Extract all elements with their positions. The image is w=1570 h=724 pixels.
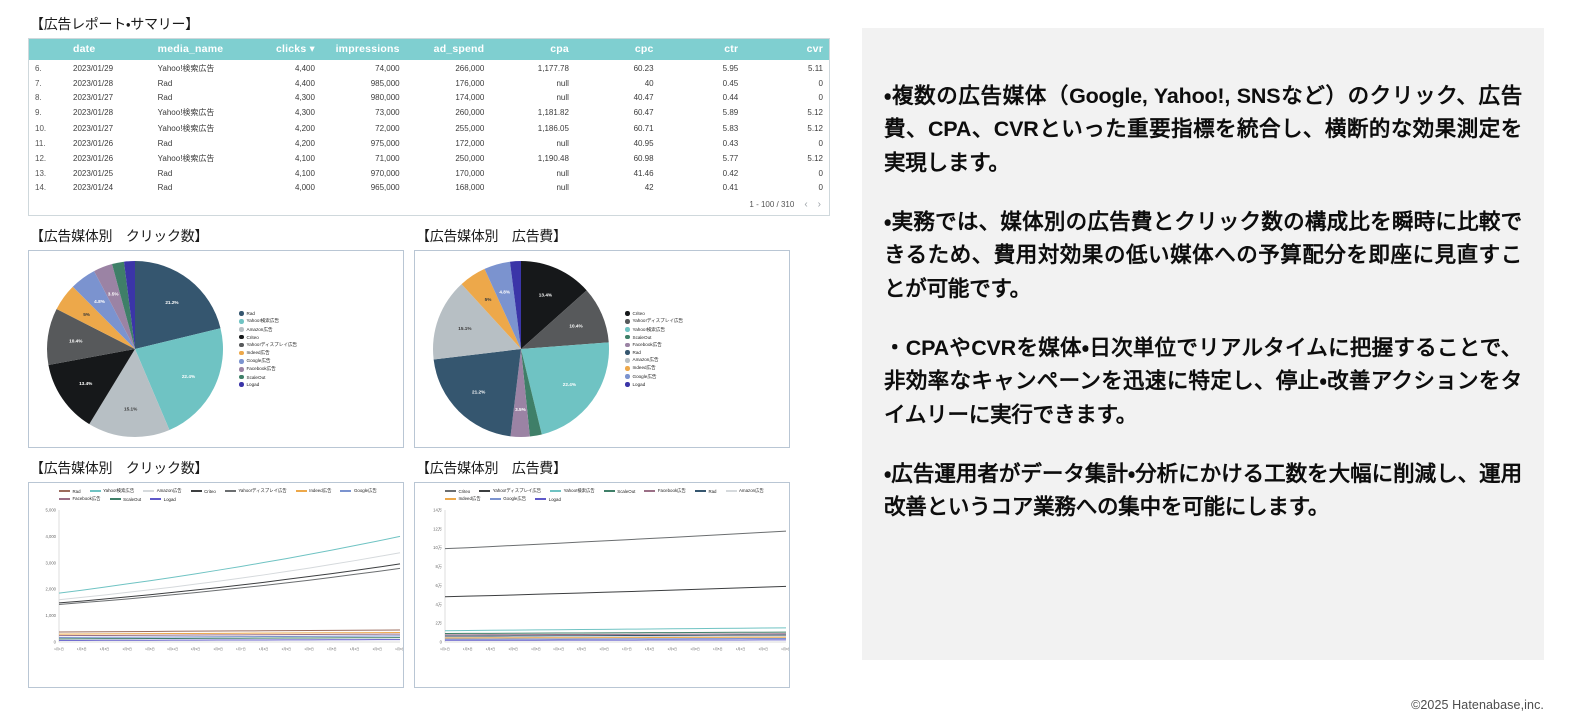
legend-label: Criteo bbox=[633, 311, 645, 316]
line-clicks-x-tick: 1月6日 bbox=[145, 647, 155, 651]
line-chart-spend-card[interactable]: CriteoYahoo!ディスプレイ広告Yahoo!検索広告ScaleOutFa… bbox=[414, 482, 790, 688]
cell-cpa: null bbox=[490, 76, 575, 90]
legend-color-swatch bbox=[59, 490, 70, 492]
legend-color-dot bbox=[625, 382, 630, 387]
pie-clicks-svg: 21.2%22.4%15.1%13.4%10.4%5%4.8%3.5% bbox=[39, 254, 231, 444]
line-clicks-x-tick: 1月9日 bbox=[395, 647, 404, 651]
pie-clicks-legend-item[interactable]: Google広告 bbox=[239, 358, 297, 364]
line-clicks-legend-item[interactable]: ScaleOut bbox=[110, 496, 142, 502]
legend-color-swatch bbox=[90, 490, 101, 492]
pie-spend-slice-label: 3.5% bbox=[515, 407, 527, 412]
pie-spend-legend-item[interactable]: ScaleOut bbox=[625, 335, 683, 340]
cell-date: 2023/01/26 bbox=[67, 150, 152, 166]
description-bullet-1: ・複数の広告媒体（Google, Yahoo!, SNSなど）のクリック、広告費… bbox=[884, 80, 1522, 180]
legend-label: Facebook広告 bbox=[247, 366, 276, 372]
table-header-row: date media_name clicks ▾ impressions ad_… bbox=[29, 39, 829, 60]
cell-ctr: 0.41 bbox=[660, 180, 745, 194]
cell-index: 8. bbox=[29, 90, 67, 104]
legend-color-swatch bbox=[604, 490, 615, 492]
line-spend-x-tick: 1月6日 bbox=[531, 647, 541, 651]
cell-impressions: 975,000 bbox=[321, 136, 406, 150]
line-clicks-legend-item[interactable]: Google広告 bbox=[340, 488, 376, 494]
cell-index: 14. bbox=[29, 180, 67, 194]
cell-cpa: 1,190.48 bbox=[490, 150, 575, 166]
line-spend-series-line[interactable] bbox=[445, 628, 786, 631]
cell-impressions: 74,000 bbox=[321, 60, 406, 76]
legend-color-dot bbox=[625, 343, 630, 348]
pie-spend-legend-item[interactable]: Yahoo!検索広告 bbox=[625, 327, 683, 333]
cell-cpc: 60.23 bbox=[575, 60, 660, 76]
line-spend-series-line[interactable] bbox=[445, 531, 786, 549]
cell-ctr: 0.42 bbox=[660, 166, 745, 180]
pie-clicks-wrap: 21.2%22.4%15.1%13.4%10.4%5%4.8%3.5% RadY… bbox=[29, 251, 403, 447]
legend-label: Criteo bbox=[247, 335, 259, 340]
pie-clicks-legend-item[interactable]: Criteo bbox=[239, 335, 297, 340]
cell-impressions: 965,000 bbox=[321, 180, 406, 194]
pie-spend-legend-item[interactable]: Amazon広告 bbox=[625, 357, 683, 363]
line-spend-legend-item[interactable]: Rad bbox=[695, 488, 717, 494]
col-cpc[interactable]: cpc bbox=[575, 39, 660, 60]
line-clicks-series-line[interactable] bbox=[59, 636, 400, 638]
table-row[interactable]: 12.2023/01/26Yahoo!検索広告4,10071,000250,00… bbox=[29, 150, 829, 166]
line-spend-axis bbox=[445, 510, 786, 642]
cell-clicks: 4,300 bbox=[236, 104, 321, 120]
table-row[interactable]: 9.2023/01/28Yahoo!検索広告4,30073,000260,000… bbox=[29, 104, 829, 120]
legend-color-swatch bbox=[110, 498, 121, 500]
pie-clicks-slice-label: 4.8% bbox=[94, 299, 106, 304]
cell-index: 7. bbox=[29, 76, 67, 90]
legend-color-swatch bbox=[644, 490, 655, 492]
line-spend-y-tick: 0 bbox=[440, 640, 443, 645]
table-row[interactable]: 7.2023/01/28Rad4,400985,000176,000null40… bbox=[29, 76, 829, 90]
cell-media-name: Rad bbox=[152, 76, 237, 90]
pie-clicks-legend-item[interactable]: Rad bbox=[239, 311, 297, 316]
cell-cpc: 40.47 bbox=[575, 90, 660, 104]
pie-clicks-slice-label: 3.5% bbox=[108, 291, 120, 296]
cell-ad-spend: 176,000 bbox=[406, 76, 491, 90]
line-spend-y-tick: 14万 bbox=[433, 508, 442, 514]
line-clicks-series-line[interactable] bbox=[59, 638, 400, 639]
col-media-name[interactable]: media_name bbox=[152, 39, 237, 60]
line-clicks-legend-item[interactable]: Yahoo!ディスプレイ広告 bbox=[225, 488, 287, 494]
legend-color-swatch bbox=[726, 490, 737, 492]
pie-clicks-legend-item[interactable]: Facebook広告 bbox=[239, 366, 297, 372]
legend-color-dot bbox=[239, 319, 244, 324]
legend-color-swatch bbox=[191, 490, 202, 492]
pie-clicks-legend: RadYahoo!検索広告Amazon広告CriteoYahoo!ディスプレイ広… bbox=[239, 311, 297, 387]
pie-clicks-legend-item[interactable]: Logad bbox=[239, 382, 297, 387]
legend-label: Yahoo!ディスプレイ広告 bbox=[633, 318, 684, 324]
cell-clicks: 4,100 bbox=[236, 150, 321, 166]
legend-color-dot bbox=[239, 343, 244, 348]
line-spend-legend-item[interactable]: Yahoo!検索広告 bbox=[550, 488, 595, 494]
line-clicks-legend-item[interactable]: Amazon広告 bbox=[143, 488, 181, 494]
table-row[interactable]: 10.2023/01/27Yahoo!検索広告4,20072,000255,00… bbox=[29, 120, 829, 136]
cell-cpc: 40 bbox=[575, 76, 660, 90]
cell-cpa: 1,186.05 bbox=[490, 120, 575, 136]
legend-label: Facebook広告 bbox=[73, 496, 101, 502]
cell-media-name: Yahoo!検索広告 bbox=[152, 104, 237, 120]
cell-ctr: 0.44 bbox=[660, 90, 745, 104]
legend-color-dot bbox=[625, 374, 630, 379]
legend-color-swatch bbox=[479, 490, 490, 492]
pie-spend-slice-label: 15.1% bbox=[458, 326, 472, 331]
line-spend-x-tick: 1月8日 bbox=[690, 647, 700, 651]
cell-cvr: 0 bbox=[744, 90, 829, 104]
line-spend-series-line[interactable] bbox=[445, 632, 786, 633]
line-spend-legend-item[interactable]: Logad bbox=[535, 496, 561, 502]
line-chart-clicks-card[interactable]: RadYahoo!検索広告Amazon広告CriteoYahoo!ディスプレイ広… bbox=[28, 482, 404, 688]
line-spend-legend-item[interactable]: Facebook広告 bbox=[644, 488, 686, 494]
legend-label: Yahoo!ディスプレイ広告 bbox=[493, 488, 541, 494]
line-spend-legend-item[interactable]: ScaleOut bbox=[604, 488, 636, 494]
line-spend-x-tick: 1月2日 bbox=[736, 647, 746, 651]
line-clicks-x-tick: 1月9日 bbox=[191, 647, 201, 651]
report-table-body: 6.2023/01/29Yahoo!検索広告4,40074,000266,000… bbox=[29, 60, 829, 194]
line-spend-x-tick: 1月1日 bbox=[440, 647, 450, 651]
legend-label: Amazon広告 bbox=[739, 488, 764, 494]
cell-cpa: null bbox=[490, 90, 575, 104]
pie-clicks-title: 【広告媒体別 クリック数】 bbox=[30, 226, 404, 246]
pie-clicks-legend-item[interactable]: Yahoo!検索広告 bbox=[239, 318, 297, 324]
footer-copyright: ©2025 Hatenabase,inc. bbox=[1411, 698, 1544, 712]
description-bullet-3: ・CPAやCVRを媒体・日次単位でリアルタイムに把握することで、非効率なキャンペ… bbox=[884, 332, 1522, 432]
line-spend-legend-item[interactable]: Criteo bbox=[445, 488, 470, 494]
cell-media-name: Yahoo!検索広告 bbox=[152, 120, 237, 136]
cell-index: 10. bbox=[29, 120, 67, 136]
col-cvr[interactable]: cvr bbox=[744, 39, 829, 60]
cell-clicks: 4,100 bbox=[236, 166, 321, 180]
legend-label: Rad bbox=[708, 489, 716, 494]
line-clicks-x-tick: 1月2日 bbox=[350, 647, 360, 651]
cell-ctr: 5.77 bbox=[660, 150, 745, 166]
legend-color-swatch bbox=[445, 490, 456, 492]
cell-date: 2023/01/27 bbox=[67, 90, 152, 104]
pie-spend-legend-item[interactable]: Rad bbox=[625, 350, 683, 355]
line-clicks-x-tick: 1月8日 bbox=[304, 647, 314, 651]
legend-label: Facebook広告 bbox=[633, 342, 662, 348]
legend-label: Yahoo!検索広告 bbox=[564, 488, 595, 494]
table-row[interactable]: 11.2023/01/26Rad4,200975,000172,000null4… bbox=[29, 136, 829, 150]
line-clicks-legend-item[interactable]: Facebook広告 bbox=[59, 496, 101, 502]
legend-label: Criteo bbox=[459, 489, 471, 494]
line-clicks-series-line[interactable] bbox=[59, 564, 400, 603]
table-row[interactable]: 6.2023/01/29Yahoo!検索広告4,40074,000266,000… bbox=[29, 60, 829, 76]
legend-label: Google広告 bbox=[503, 496, 526, 502]
cell-date: 2023/01/26 bbox=[67, 136, 152, 150]
cell-cpc: 41.46 bbox=[575, 166, 660, 180]
legend-color-swatch bbox=[550, 490, 561, 492]
pie-spend-slice-label: 4.8% bbox=[499, 289, 511, 294]
pie-spend-slice-label: 22.4% bbox=[563, 382, 577, 387]
line-spend-legend-item[interactable]: Amazon広告 bbox=[726, 488, 764, 494]
cell-cvr: 0 bbox=[744, 180, 829, 194]
line-spend-y-tick: 12万 bbox=[433, 526, 442, 532]
line-clicks-x-tick: 1月11日 bbox=[167, 647, 178, 651]
cell-cvr: 5.12 bbox=[744, 150, 829, 166]
legend-color-dot bbox=[239, 351, 244, 356]
line-spend-legend: CriteoYahoo!ディスプレイ広告Yahoo!検索広告ScaleOutFa… bbox=[415, 483, 789, 504]
line-clicks-x-tick: 1月8日 bbox=[213, 647, 223, 651]
legend-label: Indeed広告 bbox=[459, 496, 481, 502]
line-clicks-legend-item[interactable]: Indeed広告 bbox=[296, 488, 332, 494]
legend-color-dot bbox=[625, 358, 630, 363]
line-clicks-y-tick: 3,000 bbox=[46, 560, 57, 565]
line-spend-x-tick: 1月9日 bbox=[668, 647, 678, 651]
table-row[interactable]: 8.2023/01/27Rad4,300980,000174,000null40… bbox=[29, 90, 829, 104]
cell-ad-spend: 174,000 bbox=[406, 90, 491, 104]
line-spend-x-tick: 1月6日 bbox=[463, 647, 473, 651]
pie-clicks-slice-label: 10.4% bbox=[69, 338, 83, 343]
line-clicks-legend-item[interactable]: Logad bbox=[150, 496, 176, 502]
next-page-icon[interactable]: › bbox=[818, 199, 821, 210]
cell-index: 13. bbox=[29, 166, 67, 180]
legend-color-dot bbox=[239, 335, 244, 340]
legend-label: ScaleOut bbox=[617, 489, 635, 494]
line-spend-y-tick: 6万 bbox=[435, 583, 442, 589]
legend-label: Rad bbox=[73, 489, 81, 494]
pie-spend-svg: 13.4%10.4%22.4%3.5%21.2%15.1%5%4.8% bbox=[425, 254, 617, 444]
col-impressions[interactable]: impressions bbox=[321, 39, 406, 60]
legend-label: Yahoo!検索広告 bbox=[633, 327, 666, 333]
cell-date: 2023/01/28 bbox=[67, 76, 152, 90]
pie-spend-slice-label: 5% bbox=[485, 297, 493, 302]
line-clicks-y-tick: 0 bbox=[54, 640, 57, 645]
line-spend-series-line[interactable] bbox=[445, 638, 786, 639]
pie-clicks-legend-item[interactable]: Yahoo!ディスプレイ広告 bbox=[239, 342, 297, 348]
pie-spend-legend-item[interactable]: Criteo bbox=[625, 311, 683, 316]
cell-media-name: Rad bbox=[152, 136, 237, 150]
line-spend-x-tick: 1月11日 bbox=[553, 647, 564, 651]
line-spend-x-tick: 1月5日 bbox=[508, 647, 518, 651]
cell-ctr: 5.83 bbox=[660, 120, 745, 136]
cell-ad-spend: 172,000 bbox=[406, 136, 491, 150]
line-clicks-legend-item[interactable]: Rad bbox=[59, 488, 81, 494]
pie-spend-wrap: 13.4%10.4%22.4%3.5%21.2%15.1%5%4.8% Crit… bbox=[415, 251, 789, 447]
line-clicks-axis bbox=[59, 510, 400, 642]
cell-clicks: 4,200 bbox=[236, 136, 321, 150]
cell-date: 2023/01/25 bbox=[67, 166, 152, 180]
cell-ad-spend: 260,000 bbox=[406, 104, 491, 120]
cell-cpc: 60.98 bbox=[575, 150, 660, 166]
pie-clicks-slice-label: 13.4% bbox=[79, 381, 93, 386]
line-clicks-x-tick: 1月6日 bbox=[77, 647, 87, 651]
legend-color-swatch bbox=[296, 490, 307, 492]
line-clicks-y-tick: 2,000 bbox=[46, 587, 57, 592]
cell-impressions: 71,000 bbox=[321, 150, 406, 166]
line-spend-y-tick: 8万 bbox=[435, 564, 442, 570]
line-clicks-svg: 5,0004,0003,0002,0001,00001月1日1月6日1月3日1月… bbox=[29, 504, 404, 676]
cell-ad-spend: 250,000 bbox=[406, 150, 491, 166]
cell-impressions: 73,000 bbox=[321, 104, 406, 120]
pie-spend-slice-label: 10.4% bbox=[569, 324, 583, 329]
legend-label: Yahoo!検索広告 bbox=[247, 318, 280, 324]
prev-page-icon[interactable]: ‹ bbox=[804, 199, 807, 210]
pie-clicks-legend-item[interactable]: Indeed広告 bbox=[239, 350, 297, 356]
description-panel: ・複数の広告媒体（Google, Yahoo!, SNSなど）のクリック、広告費… bbox=[862, 28, 1544, 660]
line-spend-x-tick: 1月6日 bbox=[758, 647, 768, 651]
line-spend-x-tick: 1月7日 bbox=[622, 647, 632, 651]
line-clicks-series-line[interactable] bbox=[59, 536, 400, 593]
cell-date: 2023/01/28 bbox=[67, 104, 152, 120]
cell-cvr: 0 bbox=[744, 136, 829, 150]
cell-ctr: 5.89 bbox=[660, 104, 745, 120]
cell-date: 2023/01/27 bbox=[67, 120, 152, 136]
cell-ad-spend: 266,000 bbox=[406, 60, 491, 76]
legend-label: Google広告 bbox=[354, 488, 377, 494]
line-clicks-legend: RadYahoo!検索広告Amazon広告CriteoYahoo!ディスプレイ広… bbox=[29, 483, 403, 504]
cell-cvr: 5.11 bbox=[744, 60, 829, 76]
legend-label: ScaleOut bbox=[633, 335, 652, 340]
pie-spend-legend-item[interactable]: Indeed広告 bbox=[625, 365, 683, 371]
pie-clicks-legend-item[interactable]: ScaleOut bbox=[239, 375, 297, 380]
line-spend-svg: 14万12万10万8万6万4万2万01月1日1月6日1月3日1月5日1月6日1月… bbox=[415, 504, 790, 676]
line-clicks-x-tick: 1月3日 bbox=[100, 647, 110, 651]
cell-date: 2023/01/24 bbox=[67, 180, 152, 194]
legend-label: Logad bbox=[247, 382, 260, 387]
line-clicks-x-tick: 1月5日 bbox=[327, 647, 337, 651]
pie-spend-legend-item[interactable]: Facebook広告 bbox=[625, 342, 683, 348]
line-spend-y-tick: 4万 bbox=[435, 602, 442, 608]
dashboard-column: 【広告レポート・サマリー】 date media_name clicks ▾ i… bbox=[28, 14, 840, 674]
legend-color-swatch bbox=[490, 498, 501, 500]
col-ctr[interactable]: ctr bbox=[660, 39, 745, 60]
cell-cpc: 42 bbox=[575, 180, 660, 194]
pie-chart-spend-card[interactable]: 13.4%10.4%22.4%3.5%21.2%15.1%5%4.8% Crit… bbox=[414, 250, 790, 448]
line-clicks-series-line[interactable] bbox=[59, 553, 400, 600]
line-clicks-title: 【広告媒体別 クリック数】 bbox=[30, 458, 404, 478]
legend-color-swatch bbox=[695, 490, 706, 492]
line-spend-x-tick: 1月4日 bbox=[645, 647, 655, 651]
legend-label: Rad bbox=[633, 350, 641, 355]
line-spend-legend-item[interactable]: Indeed広告 bbox=[445, 496, 481, 502]
legend-color-dot bbox=[239, 311, 244, 316]
legend-label: Criteo bbox=[204, 489, 216, 494]
col-date[interactable]: date bbox=[67, 39, 152, 60]
pie-clicks-legend-item[interactable]: Amazon広告 bbox=[239, 327, 297, 333]
legend-color-swatch bbox=[143, 490, 154, 492]
line-clicks-x-tick: 1月9日 bbox=[282, 647, 292, 651]
report-table-head: date media_name clicks ▾ impressions ad_… bbox=[29, 39, 829, 60]
pie-spend-legend-item[interactable]: Yahoo!ディスプレイ広告 bbox=[625, 318, 683, 324]
cell-clicks: 4,400 bbox=[236, 76, 321, 90]
line-clicks-y-tick: 5,000 bbox=[46, 508, 57, 513]
legend-color-dot bbox=[625, 366, 630, 371]
line-spend-x-tick: 1月3日 bbox=[486, 647, 496, 651]
legend-color-dot bbox=[625, 327, 630, 332]
line-spend-y-tick: 2万 bbox=[435, 621, 442, 627]
line-spend-x-tick: 1月9日 bbox=[781, 647, 790, 651]
pie-spend-title: 【広告媒体別 広告費】 bbox=[416, 226, 790, 246]
cell-cvr: 0 bbox=[744, 76, 829, 90]
legend-label: Rad bbox=[247, 311, 255, 316]
cell-media-name: Yahoo!検索広告 bbox=[152, 60, 237, 76]
line-spend-legend-item[interactable]: Yahoo!ディスプレイ広告 bbox=[479, 488, 541, 494]
slide-root: 【広告レポート・サマリー】 date media_name clicks ▾ i… bbox=[0, 0, 1570, 724]
line-spend-x-tick: 1月9日 bbox=[577, 647, 587, 651]
line-spend-title: 【広告媒体別 広告費】 bbox=[416, 458, 790, 478]
pie-spend-slice-label: 13.4% bbox=[539, 292, 553, 297]
legend-label: Indeed広告 bbox=[247, 350, 270, 356]
cell-impressions: 985,000 bbox=[321, 76, 406, 90]
cell-cpc: 60.71 bbox=[575, 120, 660, 136]
legend-color-swatch bbox=[59, 498, 70, 500]
line-spend-y-tick: 10万 bbox=[433, 545, 442, 551]
cell-ad-spend: 170,000 bbox=[406, 166, 491, 180]
line-spend-series-line[interactable] bbox=[445, 586, 786, 596]
legend-label: Amazon広告 bbox=[633, 357, 659, 363]
legend-label: Logad bbox=[633, 382, 646, 387]
pie-clicks-slice-label: 5% bbox=[83, 312, 91, 317]
legend-color-swatch bbox=[535, 498, 546, 500]
legend-label: Yahoo!ディスプレイ広告 bbox=[238, 488, 286, 494]
pie-spend-legend-item[interactable]: Google広告 bbox=[625, 374, 683, 380]
cell-cpc: 60.47 bbox=[575, 104, 660, 120]
legend-color-dot bbox=[625, 311, 630, 316]
cell-clicks: 4,200 bbox=[236, 120, 321, 136]
line-clicks-legend-item[interactable]: Criteo bbox=[191, 488, 216, 494]
legend-label: Google広告 bbox=[247, 358, 271, 364]
legend-label: Google広告 bbox=[633, 374, 657, 380]
line-clicks-series-line[interactable] bbox=[59, 640, 400, 641]
col-ad-spend[interactable]: ad_spend bbox=[406, 39, 491, 60]
col-clicks[interactable]: clicks ▾ bbox=[236, 39, 321, 60]
cell-ad-spend: 168,000 bbox=[406, 180, 491, 194]
cell-ctr: 0.45 bbox=[660, 76, 745, 90]
line-clicks-y-tick: 4,000 bbox=[46, 534, 57, 539]
pie-spend-slice-label: 21.2% bbox=[472, 389, 486, 394]
table-pagination: 1 - 100 / 310 ‹ › bbox=[29, 194, 829, 215]
legend-label: Logad bbox=[164, 497, 176, 502]
legend-label: Indeed広告 bbox=[309, 488, 331, 494]
cell-cvr: 0 bbox=[744, 166, 829, 180]
cell-date: 2023/01/29 bbox=[67, 60, 152, 76]
line-clicks-x-tick: 1月4日 bbox=[259, 647, 269, 651]
pie-spend-legend: CriteoYahoo!ディスプレイ広告Yahoo!検索広告ScaleOutFa… bbox=[625, 311, 683, 387]
table-row[interactable]: 14.2023/01/24Rad4,000965,000168,000null4… bbox=[29, 180, 829, 194]
report-table-card: date media_name clicks ▾ impressions ad_… bbox=[28, 38, 830, 216]
pie-chart-clicks-card[interactable]: 21.2%22.4%15.1%13.4%10.4%5%4.8%3.5% RadY… bbox=[28, 250, 404, 448]
legend-label: ScaleOut bbox=[123, 497, 141, 502]
cell-media-name: Rad bbox=[152, 166, 237, 180]
legend-color-swatch bbox=[340, 490, 351, 492]
cell-media-name: Yahoo!検索広告 bbox=[152, 150, 237, 166]
table-row[interactable]: 13.2023/01/25Rad4,100970,000170,000null4… bbox=[29, 166, 829, 180]
legend-label: Logad bbox=[549, 497, 561, 502]
cell-cvr: 5.12 bbox=[744, 104, 829, 120]
line-clicks-series-line[interactable] bbox=[59, 630, 400, 632]
line-clicks-legend-item[interactable]: Yahoo!検索広告 bbox=[90, 488, 135, 494]
legend-label: ScaleOut bbox=[247, 375, 266, 380]
col-cpa[interactable]: cpa bbox=[490, 39, 575, 60]
cell-cpa: null bbox=[490, 136, 575, 150]
line-spend-x-tick: 1月8日 bbox=[599, 647, 609, 651]
legend-color-dot bbox=[239, 375, 244, 380]
line-spend-legend-item[interactable]: Google広告 bbox=[490, 496, 526, 502]
cell-cpc: 40.95 bbox=[575, 136, 660, 150]
line-clicks-x-tick: 1月6日 bbox=[372, 647, 382, 651]
pie-spend-legend-item[interactable]: Logad bbox=[625, 382, 683, 387]
legend-label: Amazon広告 bbox=[247, 327, 273, 333]
report-table: date media_name clicks ▾ impressions ad_… bbox=[29, 39, 829, 194]
cell-impressions: 980,000 bbox=[321, 90, 406, 104]
cell-ctr: 5.95 bbox=[660, 60, 745, 76]
line-spend-x-tick: 1月5日 bbox=[713, 647, 723, 651]
line-clicks-y-tick: 1,000 bbox=[46, 613, 57, 618]
legend-color-dot bbox=[625, 319, 630, 324]
legend-color-dot bbox=[239, 382, 244, 387]
cell-cpa: null bbox=[490, 180, 575, 194]
